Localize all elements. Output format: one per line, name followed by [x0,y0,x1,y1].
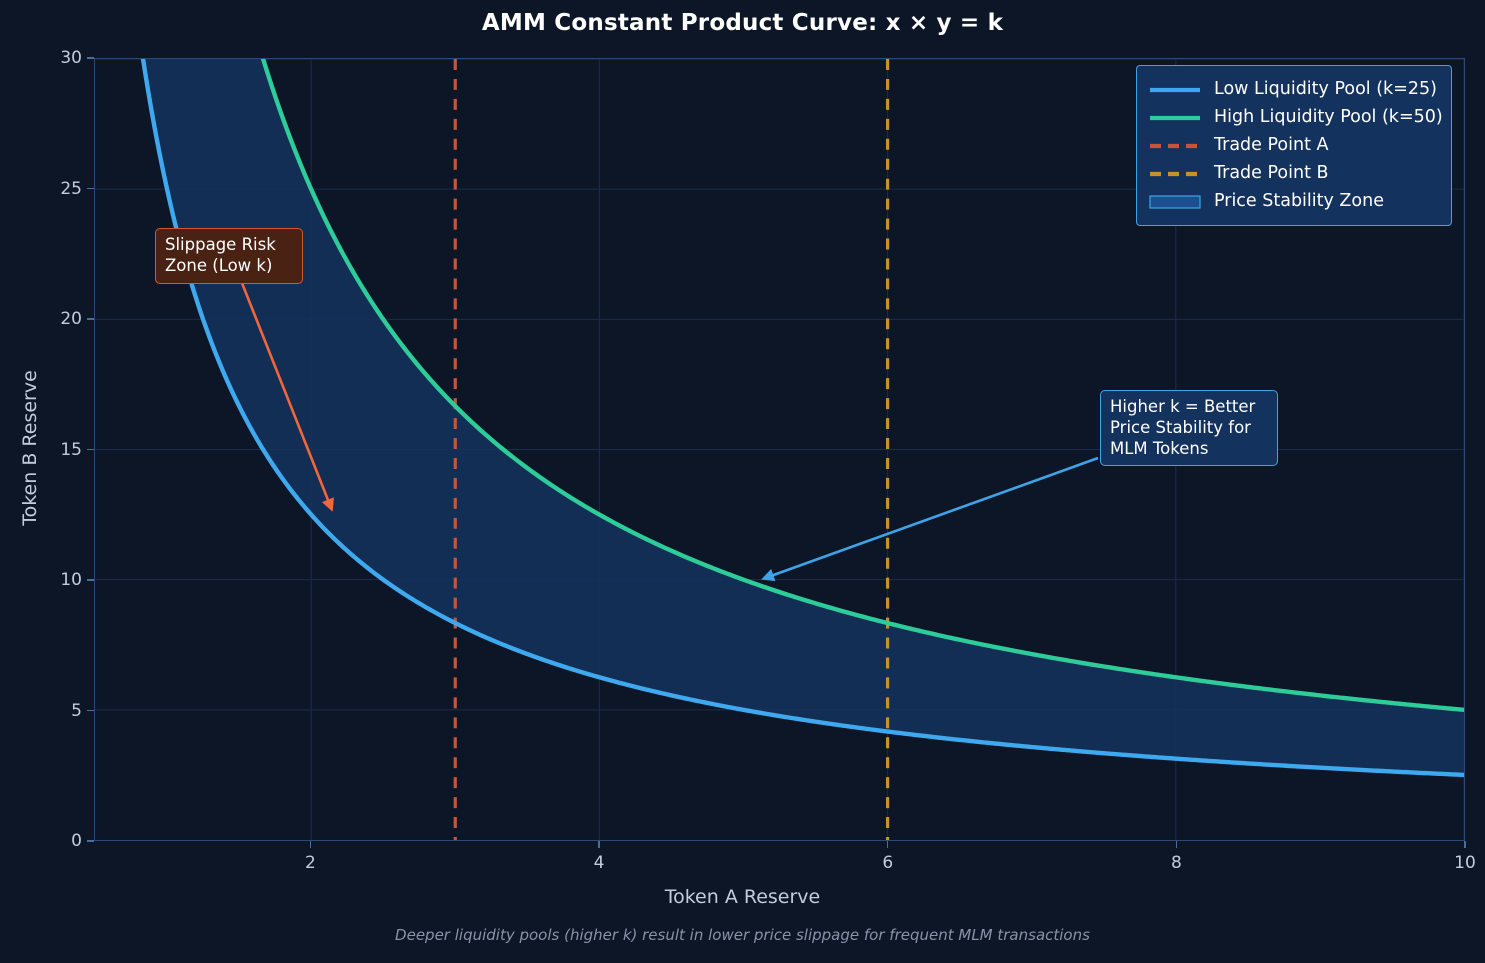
legend-item-label: Price Stability Zone [1214,191,1384,211]
legend-item[interactable]: Trade Point B [1149,159,1439,187]
x-tick-mark [598,841,599,848]
legend-item-label: High Liquidity Pool (k=50) [1214,107,1443,127]
y-tick-mark [87,840,94,841]
y-tick-label: 5 [22,701,82,721]
legend-swatch-icon [1149,194,1201,208]
y-tick-mark [87,449,94,450]
legend-item-label: Trade Point A [1214,135,1328,155]
y-tick-mark [87,188,94,189]
x-tick-mark [1176,841,1177,848]
y-axis-label: Token B Reserve [19,348,41,548]
legend-swatch-icon [1149,110,1201,124]
x-axis-label: Token A Reserve [0,886,1485,908]
y-tick-label: 25 [22,179,82,199]
x-tick-label: 8 [1146,853,1206,873]
x-tick-mark [1464,841,1465,848]
x-tick-label: 10 [1435,853,1485,873]
x-tick-label: 6 [858,853,918,873]
y-tick-mark [87,318,94,319]
y-tick-label: 20 [22,309,82,329]
chart-title: AMM Constant Product Curve: x × y = k [0,10,1485,36]
legend-swatch-icon [1149,166,1201,180]
y-tick-mark [87,579,94,580]
legend-swatch-icon [1149,82,1201,96]
legend-item[interactable]: Trade Point A [1149,131,1439,159]
y-tick-label: 30 [22,48,82,68]
legend-item[interactable]: High Liquidity Pool (k=50) [1149,103,1439,131]
legend-item[interactable]: Price Stability Zone [1149,187,1439,215]
chart-figure: AMM Constant Product Curve: x × y = k 05… [0,0,1485,963]
x-tick-label: 2 [280,853,340,873]
x-tick-mark [310,841,311,848]
y-tick-mark [87,57,94,58]
x-tick-label: 4 [569,853,629,873]
y-tick-label: 0 [22,831,82,851]
chart-legend: Low Liquidity Pool (k=25)High Liquidity … [1136,65,1452,226]
annotation-price-stability: Higher k = Better Price Stability for ML… [1100,390,1278,466]
annotation-slippage-risk: Slippage Risk Zone (Low k) [155,228,303,284]
legend-swatch-icon [1149,138,1201,152]
y-tick-label: 10 [22,570,82,590]
chart-footnote: Deeper liquidity pools (higher k) result… [0,926,1485,944]
legend-item-label: Low Liquidity Pool (k=25) [1214,79,1437,99]
x-tick-mark [887,841,888,848]
legend-item-label: Trade Point B [1214,163,1329,183]
legend-item[interactable]: Low Liquidity Pool (k=25) [1149,75,1439,103]
y-tick-mark [87,710,94,711]
